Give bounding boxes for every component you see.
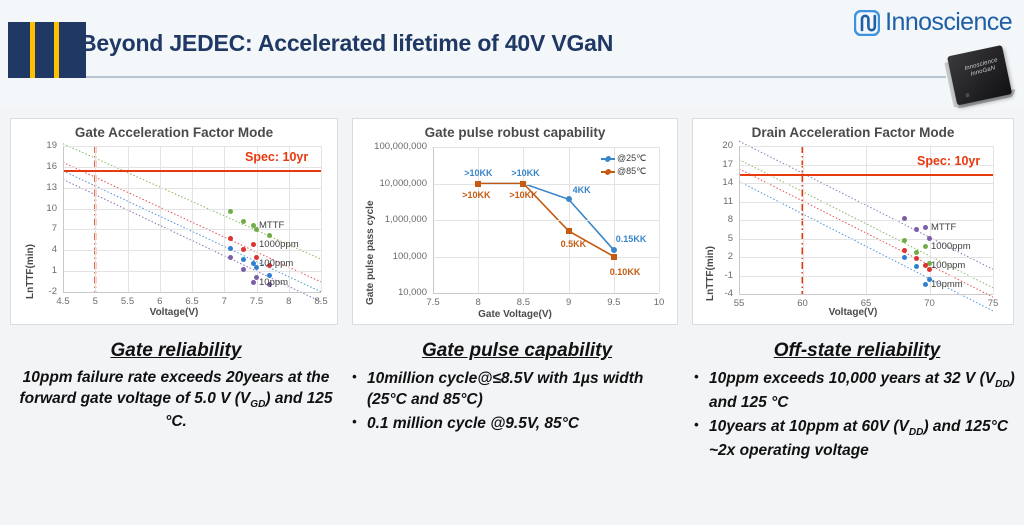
chart-data-point [520,181,526,187]
chart-title: Gate Acceleration Factor Mode [11,125,337,140]
chart-legend-marker [605,170,610,175]
note-body: 10ppm failure rate exceeds 20years at th… [8,368,344,433]
chart-legend-label: MTTF [931,222,956,233]
charts-row: Gate Acceleration Factor Mode LnTTF(min)… [0,118,1024,333]
chart-x-tick-label: 4.5 [47,296,79,307]
note-bullet-text: 10ppm exceeds 10,000 years at 32 V (VDD)… [709,368,1020,413]
chart-gridline-horizontal [739,276,993,277]
chart-spec-label: Spec: 10yr [917,154,980,168]
chart-legend-item: 10ppm [251,277,288,288]
chart-legend-marker [605,157,610,162]
chart-legend-label: MTTF [259,220,284,231]
chart-gridline-horizontal [739,257,993,258]
chart-legend-swatch [251,261,256,266]
chip-product-image: Innoscience InnoGaN [943,42,1020,112]
chart-x-tick-label: 10 [643,297,675,308]
chart-legend-label: 1000ppm [259,239,299,250]
chart-legend-item: MTTF [923,222,956,233]
chart-data-point [566,228,572,234]
chart-legend-item: 1000ppm [923,241,971,252]
chart-data-point [611,247,617,253]
chart-gridline-horizontal [739,183,993,184]
chart-gridline-vertical [192,146,193,292]
chart-x-tick-label: 7.5 [417,297,449,308]
note-bullet: •10ppm exceeds 10,000 years at 32 V (VDD… [694,368,1020,413]
chart-legend-label: 1000ppm [931,241,971,252]
chart-x-tick-label: 5 [79,296,111,307]
chart-legend-label: @85℃ [617,166,646,177]
chart-series-line [478,184,614,251]
chart-gridline-horizontal [63,250,321,251]
page-title: Beyond JEDEC: Accelerated lifetime of 40… [80,30,780,57]
chart-card-gate-pulse: Gate pulse robust capability Gate pulse … [352,118,678,325]
chart-y-tick-label: 100,000 [357,251,427,262]
chart-legend-item: 10pmm [923,279,963,290]
chart-data-point [241,257,246,262]
chart-legend-swatch [251,242,256,247]
notes-row: Gate reliability 10ppm failure rate exce… [0,340,1024,525]
chart-gridline-vertical [128,146,129,292]
chart-y-tick-label: -2 [23,286,57,297]
chart-gridline-horizontal [63,167,321,168]
chart-legend-swatch [251,280,256,285]
chart-x-tick-label: 75 [977,298,1009,309]
chart-legend-line-swatch [601,158,615,160]
chart-y-tick-label: 8 [699,214,733,225]
chart-legend-label: @25℃ [617,153,646,164]
chart-legend-label: 100ppm [931,260,965,271]
chart-gridline-vertical [321,146,322,292]
chart-y-tick-label: 2 [699,251,733,262]
chart-x-tick-label: 9.5 [598,297,630,308]
note-heading: Off-state reliability [694,340,1020,362]
chart-y-axis-line [433,147,434,293]
chart-data-point [902,248,907,253]
slide-header: Beyond JEDEC: Accelerated lifetime of 40… [0,0,1024,110]
chart-y-tick-label: 20 [699,140,733,151]
note-gate-pulse-capability: Gate pulse capability •10million cycle@≤… [352,340,682,437]
chart-y-tick-label: 10,000,000 [357,178,427,189]
note-off-state-reliability: Off-state reliability •10ppm exceeds 10,… [694,340,1020,464]
chart-legend-swatch [251,223,256,228]
chart-x-axis-line [739,294,993,295]
note-bullet-text: 10years at 10ppm at 60V (VDD) and 125°C … [709,416,1020,461]
chart-x-tick-label: 70 [914,298,946,309]
chip-pin1-marker [965,93,970,98]
chart-data-label: >10KK [511,168,539,178]
chart-x-tick-label: 8 [462,297,494,308]
chart-data-point [475,181,481,187]
chart-gridline-horizontal [433,220,659,221]
chart-gridline-horizontal [433,147,659,148]
chart-gridline-horizontal [63,271,321,272]
chart-legend-swatch [923,244,928,249]
chart-legend-swatch [923,282,928,287]
header-accent-stripe [30,22,35,78]
note-gate-reliability: Gate reliability 10ppm failure rate exce… [8,340,344,433]
chart-data-label: >10KK [509,190,537,200]
chart-x-tick-label: 8 [273,296,305,307]
chart-title: Gate pulse robust capability [353,125,677,140]
chart-x-tick-label: 8.5 [305,296,337,307]
chart-data-point [241,267,246,272]
chart-plot-area [739,146,993,294]
bullet-icon: • [694,368,702,413]
note-bullet-text: 10million cycle@≤8.5V with 1µs width (25… [367,368,682,410]
chart-y-axis-line [739,146,740,294]
chart-y-tick-label: 13 [23,182,57,193]
chart-y-tick-label: 14 [699,177,733,188]
chart-legend-item: @85℃ [601,166,646,177]
chart-x-tick-label: 60 [787,298,819,309]
chart-y-tick-label: -1 [699,270,733,281]
bullet-icon: • [352,368,360,410]
chart-spec-label: Spec: 10yr [245,150,308,164]
chart-plot-area [63,146,321,292]
chart-legend-item: MTTF [251,220,284,231]
chart-x-axis-line [433,293,659,294]
chart-x-tick-label: 9 [553,297,585,308]
chart-y-tick-label: 1,000,000 [357,214,427,225]
chart-y-tick-label: 4 [23,244,57,255]
chart-x-tick-label: 7.5 [241,296,273,307]
chart-gridline-horizontal [739,146,993,147]
chart-gridline-horizontal [739,220,993,221]
chart-gridline-horizontal [433,257,659,258]
chart-x-axis-label: Voltage(V) [11,307,337,318]
chart-gridline-horizontal [63,209,321,210]
chart-gridline-horizontal [433,184,659,185]
chart-legend-swatch [923,263,928,268]
chart-data-label: 4KK [573,185,591,195]
chart-data-point [611,254,617,260]
title-divider [86,76,946,78]
header-accent-stripe [54,22,59,78]
chart-card-gate-acceleration: Gate Acceleration Factor Mode LnTTF(min)… [10,118,338,325]
chart-legend-label: 10pmm [931,279,963,290]
chart-data-point [902,216,907,221]
note-bullet: •10million cycle@≤8.5V with 1µs width (2… [352,368,682,410]
chart-spec-line [63,170,321,172]
chart-x-tick-label: 6 [144,296,176,307]
note-heading: Gate reliability [8,340,344,362]
chart-data-point [902,255,907,260]
chart-x-tick-label: 65 [850,298,882,309]
chart-y-tick-label: 10 [23,203,57,214]
chart-data-label: 0.10KK [610,267,641,277]
note-heading: Gate pulse capability [352,340,682,362]
chart-gridline-horizontal [63,146,321,147]
innoscience-logo-mark-icon [854,10,880,36]
chart-gridline-vertical [993,146,994,294]
chip-label: Innoscience InnoGaN [958,56,1006,81]
chart-y-tick-label: 7 [23,223,57,234]
chart-gridline-vertical [160,146,161,292]
chart-x-tick-label: 7 [208,296,240,307]
chart-y-axis-line [63,146,64,292]
chart-y-tick-label: 100,000,000 [357,141,427,152]
chart-x-tick-label: 6.5 [176,296,208,307]
chart-legend-item: @25℃ [601,153,646,164]
note-bullet-text: 0.1 million cycle @9.5V, 85°C [367,413,579,434]
chart-gridline-horizontal [739,239,993,240]
chart-data-point [228,246,233,251]
chart-x-tick-label: 5.5 [112,296,144,307]
chart-gridline-horizontal [739,202,993,203]
chart-spec-line [739,174,993,176]
note-bullet: •10years at 10ppm at 60V (VDD) and 125°C… [694,416,1020,461]
chart-data-label: 0.15KK [616,234,647,244]
chart-legend-item: 100ppm [251,258,293,269]
note-bullet-list: •10ppm exceeds 10,000 years at 32 V (VDD… [694,368,1020,461]
chart-legend-item: 1000ppm [251,239,299,250]
bullet-icon: • [694,416,702,461]
chart-title: Drain Acceleration Factor Mode [693,125,1013,140]
chart-data-point [566,196,572,202]
chart-y-tick-label: -4 [699,288,733,299]
chart-card-drain-acceleration: Drain Acceleration Factor Mode LnTTF(min… [692,118,1014,325]
chart-y-tick-label: 1 [23,265,57,276]
chart-y-tick-label: 17 [699,159,733,170]
brand-logo: Innoscience [854,8,1012,37]
chart-x-tick-label: 55 [723,298,755,309]
chart-gridline-vertical [289,146,290,292]
chart-gridline-vertical [95,146,96,292]
bullet-icon: • [352,413,360,434]
header-accent-block [8,22,86,78]
note-bullet-list: •10million cycle@≤8.5V with 1µs width (2… [352,368,682,434]
chart-legend-line-swatch [601,171,615,173]
chart-gridline-vertical [224,146,225,292]
chart-data-label: >10KK [462,190,490,200]
chart-y-tick-label: 5 [699,233,733,244]
chart-legend-swatch [923,225,928,230]
chart-data-label: >10KK [464,168,492,178]
chart-x-axis-line [63,292,321,293]
chart-x-axis-label: Gate Voltage(V) [353,309,677,320]
chart-gridline-vertical [257,146,258,292]
chart-legend-label: 100ppm [259,258,293,269]
brand-name: Innoscience [885,8,1012,37]
chart-gridline-vertical [659,147,660,293]
chart-legend-item: 100ppm [923,260,965,271]
note-bullet: •0.1 million cycle @9.5V, 85°C [352,413,682,434]
chart-data-label: 0.5KK [561,239,587,249]
chart-gridline-horizontal [63,188,321,189]
chart-legend-label: 10ppm [259,277,288,288]
chart-y-tick-label: 10,000 [357,287,427,298]
chart-y-tick-label: 16 [23,161,57,172]
chart-x-tick-label: 8.5 [507,297,539,308]
chart-y-tick-label: 11 [699,196,733,207]
chart-y-tick-label: 19 [23,140,57,151]
